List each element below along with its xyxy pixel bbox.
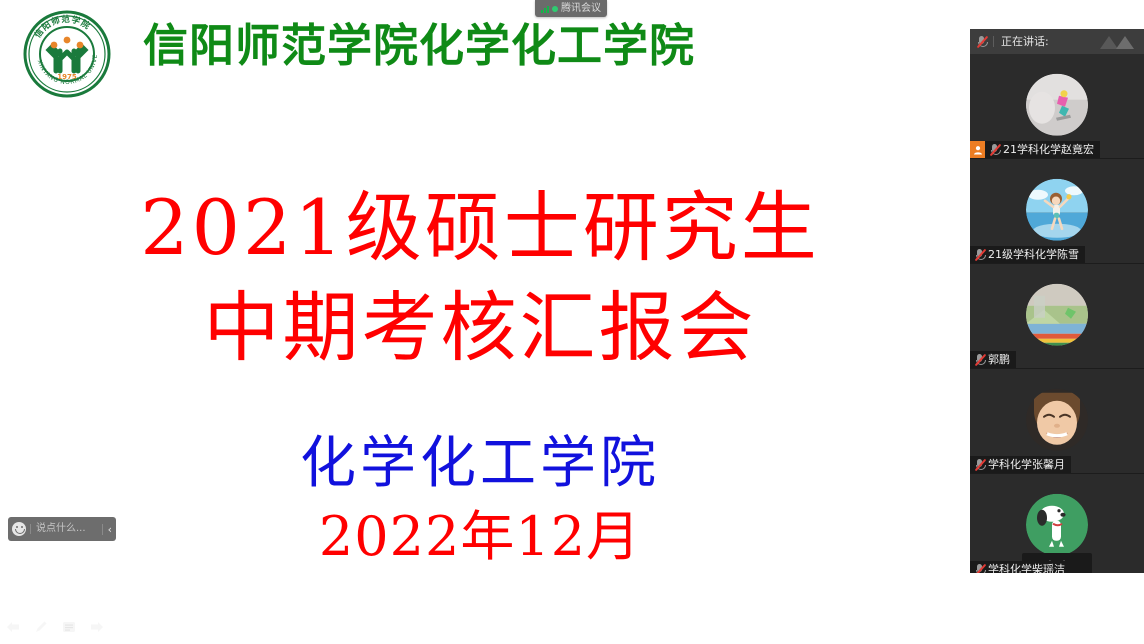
mic-muted-icon: [974, 563, 985, 574]
participant-name: 21学科化学赵竟宏: [1003, 144, 1094, 155]
skier-photo-avatar: [1026, 74, 1088, 136]
participant-name-plate: 学科化学柴瑶洁: [970, 561, 1071, 573]
participant-tile[interactable]: 学科化学张馨月: [970, 369, 1144, 474]
speaking-label: 正在讲话:: [993, 36, 1049, 47]
annotate-pen-button[interactable]: [34, 620, 48, 634]
mic-muted-icon: [974, 458, 985, 472]
participant-name-plate: 21级学科化学陈雪: [970, 246, 1085, 263]
landscape-photo-avatar: [1026, 284, 1088, 346]
beach-girl-illustration-avatar: [1026, 179, 1088, 241]
host-badge-icon: [970, 141, 985, 158]
slide-date: 2022年12月: [0, 505, 960, 570]
tencent-meeting-status-badge[interactable]: 腾讯会议: [535, 0, 607, 17]
chat-input-bar[interactable]: 说点什么... ‹: [8, 517, 116, 541]
mic-muted-icon: [974, 248, 985, 262]
recording-status-dot-icon: [552, 6, 558, 12]
next-slide-button[interactable]: [90, 620, 104, 634]
signal-bars-icon: [541, 5, 549, 13]
participant-tile[interactable]: 学科化学柴瑶洁: [970, 474, 1144, 573]
slide-title-line-1: 2021级硕士研究生: [0, 178, 960, 278]
snoopy-cartoon-avatar: [1026, 494, 1088, 556]
participant-name: 学科化学柴瑶洁: [988, 564, 1065, 573]
participant-name-plate: 郭鹏: [970, 351, 1016, 368]
previous-slide-button[interactable]: [6, 620, 20, 634]
meeting-badge-label: 腾讯会议: [561, 4, 601, 14]
presenter-toolbar[interactable]: [6, 620, 104, 634]
chat-input-placeholder[interactable]: 说点什么...: [30, 524, 98, 534]
smiley-face-icon[interactable]: [12, 522, 26, 536]
participant-name: 21级学科化学陈雪: [988, 249, 1079, 260]
collapse-chat-chevron-left-icon[interactable]: ‹: [102, 524, 112, 535]
mic-muted-icon: [989, 143, 1000, 157]
institution-header-text: 信阳师范学院化学化工学院: [143, 20, 695, 72]
slide-title: 2021级硕士研究生 中期考核汇报会: [0, 178, 960, 379]
child-face-photo-avatar: [1026, 389, 1088, 451]
participant-tile[interactable]: 郭鹏: [970, 264, 1144, 369]
participant-name-plate: 学科化学张馨月: [970, 456, 1071, 473]
slide-subtitle: 化学化工学院: [0, 430, 960, 497]
sidebar-speaking-header: 正在讲话:: [970, 29, 1144, 54]
participant-tile[interactable]: 21级学科化学陈雪: [970, 159, 1144, 264]
mic-muted-icon: [976, 35, 987, 49]
slide-menu-button[interactable]: [62, 620, 76, 634]
slide-title-line-2: 中期考核汇报会: [0, 278, 960, 378]
participant-name: 郭鹏: [988, 354, 1010, 365]
participant-name: 学科化学张馨月: [988, 459, 1065, 470]
participant-name-plate: 21学科化学赵竟宏: [970, 141, 1100, 158]
mic-muted-icon: [974, 353, 985, 367]
tencent-meeting-logo-icon: [1096, 32, 1140, 56]
university-logo-seal: 1975 信阳师范学院 XINYANG NORMAL UNIVERSITY: [10, 9, 132, 99]
participant-video-sidebar[interactable]: 正在讲话:: [970, 29, 1144, 573]
participant-tile[interactable]: 21学科化学赵竟宏: [970, 54, 1144, 159]
